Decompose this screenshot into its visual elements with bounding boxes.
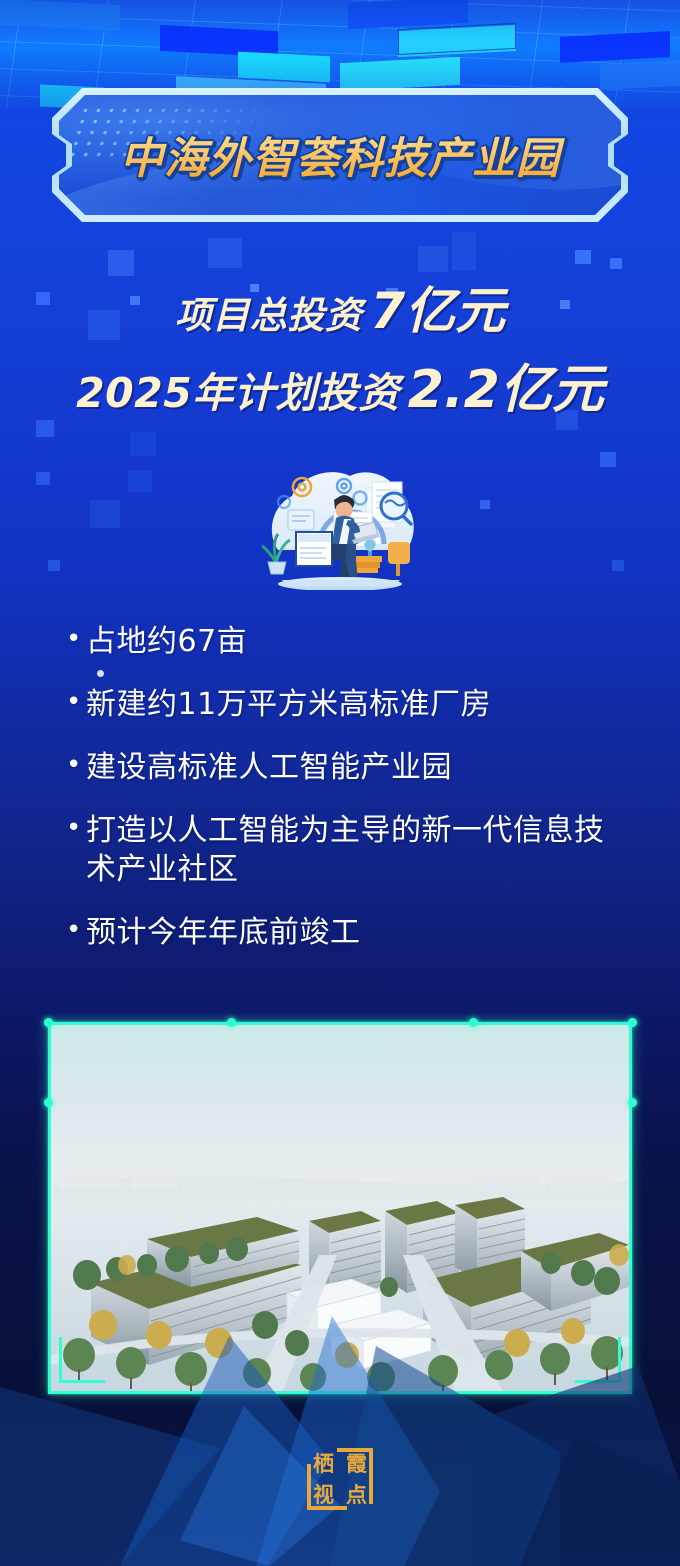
- decor-square: [480, 500, 490, 509]
- list-item: • 打造以人工智能为主导的新一代信息技术产业社区: [66, 811, 646, 889]
- logo-char-xia: 霞: [346, 1453, 367, 1474]
- list-item-label: 建设高标准人工智能产业园: [86, 748, 626, 787]
- decor-square: [128, 470, 152, 492]
- figure-label-2025: 2025年计划投资: [76, 369, 400, 417]
- qixia-shidian-logo: 栖 霞 视 点: [307, 1448, 373, 1510]
- title-frame: 中海外智荟科技产业园: [52, 88, 628, 222]
- bullet-marker-icon: •: [66, 685, 86, 720]
- decor-square: [36, 420, 54, 437]
- bullet-marker-icon: •: [66, 622, 86, 657]
- bullet-marker-icon: •: [66, 811, 86, 846]
- list-item-label: 打造以人工智能为主导的新一代信息技术产业社区: [86, 811, 626, 889]
- list-item-label: 占地约67亩: [86, 622, 626, 661]
- list-item-label: 新建约11万平方米高标准厂房: [86, 685, 626, 724]
- bullet-marker-icon: •: [66, 748, 86, 783]
- page-title: 中海外智荟科技产业园: [52, 88, 628, 222]
- logo-char-qi: 栖: [313, 1453, 334, 1474]
- figure-value-2025: 2.2亿元: [408, 360, 604, 420]
- logo-char-dian: 点: [346, 1484, 367, 1505]
- decor-square: [575, 250, 591, 264]
- decor-square: [610, 258, 622, 269]
- decor-square: [90, 500, 120, 528]
- decor-square: [600, 452, 616, 467]
- businessman-with-laptop-illustration: [248, 458, 432, 590]
- list-item: • 新建约11万平方米高标准厂房: [66, 685, 646, 724]
- decor-square: [130, 432, 156, 456]
- frame-dot-top-left: [44, 1018, 53, 1027]
- bullet-marker-icon: •: [66, 913, 86, 948]
- frame-dot-right: [628, 1098, 637, 1107]
- feature-list: • 占地约67亩 • 新建约11万平方米高标准厂房 • 建设高标准人工智能产业园…: [66, 622, 646, 976]
- list-item: • 建设高标准人工智能产业园: [66, 748, 646, 787]
- figure-value-total: 7亿元: [370, 282, 505, 340]
- decor-square: [208, 238, 242, 268]
- poster-root: 中海外智荟科技产业园 项目总投资7亿元 2025年计划投资2.2亿元: [0, 0, 680, 1566]
- frame-dot-top-right: [628, 1018, 637, 1027]
- list-item: • 占地约67亩: [66, 622, 646, 661]
- frame-dot-top-mid-right: [469, 1018, 478, 1027]
- decor-square: [48, 560, 60, 571]
- frame-dot-top-mid-left: [227, 1018, 236, 1027]
- figure-row-2025: 2025年计划投资2.2亿元: [0, 364, 680, 416]
- logo-char-shi: 视: [313, 1484, 334, 1505]
- logo-character-grid: 栖 霞 视 点: [307, 1448, 373, 1510]
- decor-square: [612, 560, 624, 571]
- frame-dot-left: [44, 1098, 53, 1107]
- bottom-facet-decor: [0, 1316, 680, 1566]
- brand-logo: 栖 霞 视 点: [0, 1448, 680, 1510]
- figure-row-total: 项目总投资7亿元: [0, 286, 680, 336]
- decor-square: [108, 250, 134, 276]
- decor-square: [36, 472, 50, 485]
- decor-square: [418, 246, 448, 272]
- list-item-label: 预计今年年底前竣工: [86, 913, 626, 952]
- investment-figures: 项目总投资7亿元 2025年计划投资2.2亿元: [0, 286, 680, 416]
- decor-square: [452, 232, 476, 270]
- figure-label-total: 项目总投资: [175, 294, 363, 337]
- list-item: • 预计今年年底前竣工: [66, 913, 646, 952]
